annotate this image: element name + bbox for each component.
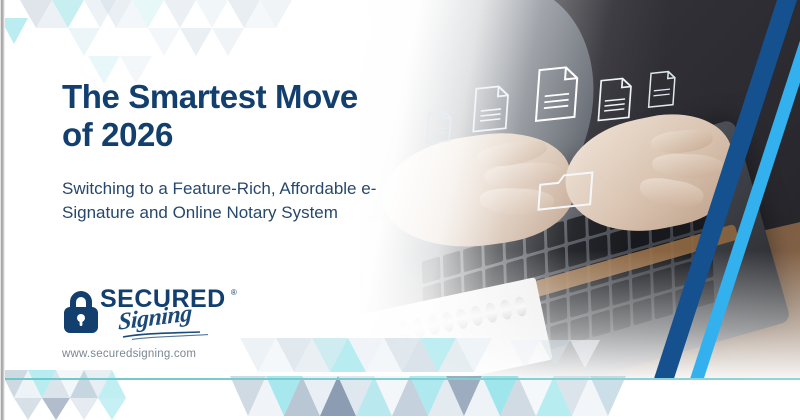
subtitle: Switching to a Feature-Rich, Affordable …	[62, 177, 382, 226]
left-edge-shadow	[0, 0, 5, 420]
page-title: The Smartest Move of 2026	[62, 78, 392, 155]
banner-content: The Smartest Move of 2026 Switching to a…	[0, 0, 400, 420]
marketing-banner: The Smartest Move of 2026 Switching to a…	[0, 0, 800, 420]
